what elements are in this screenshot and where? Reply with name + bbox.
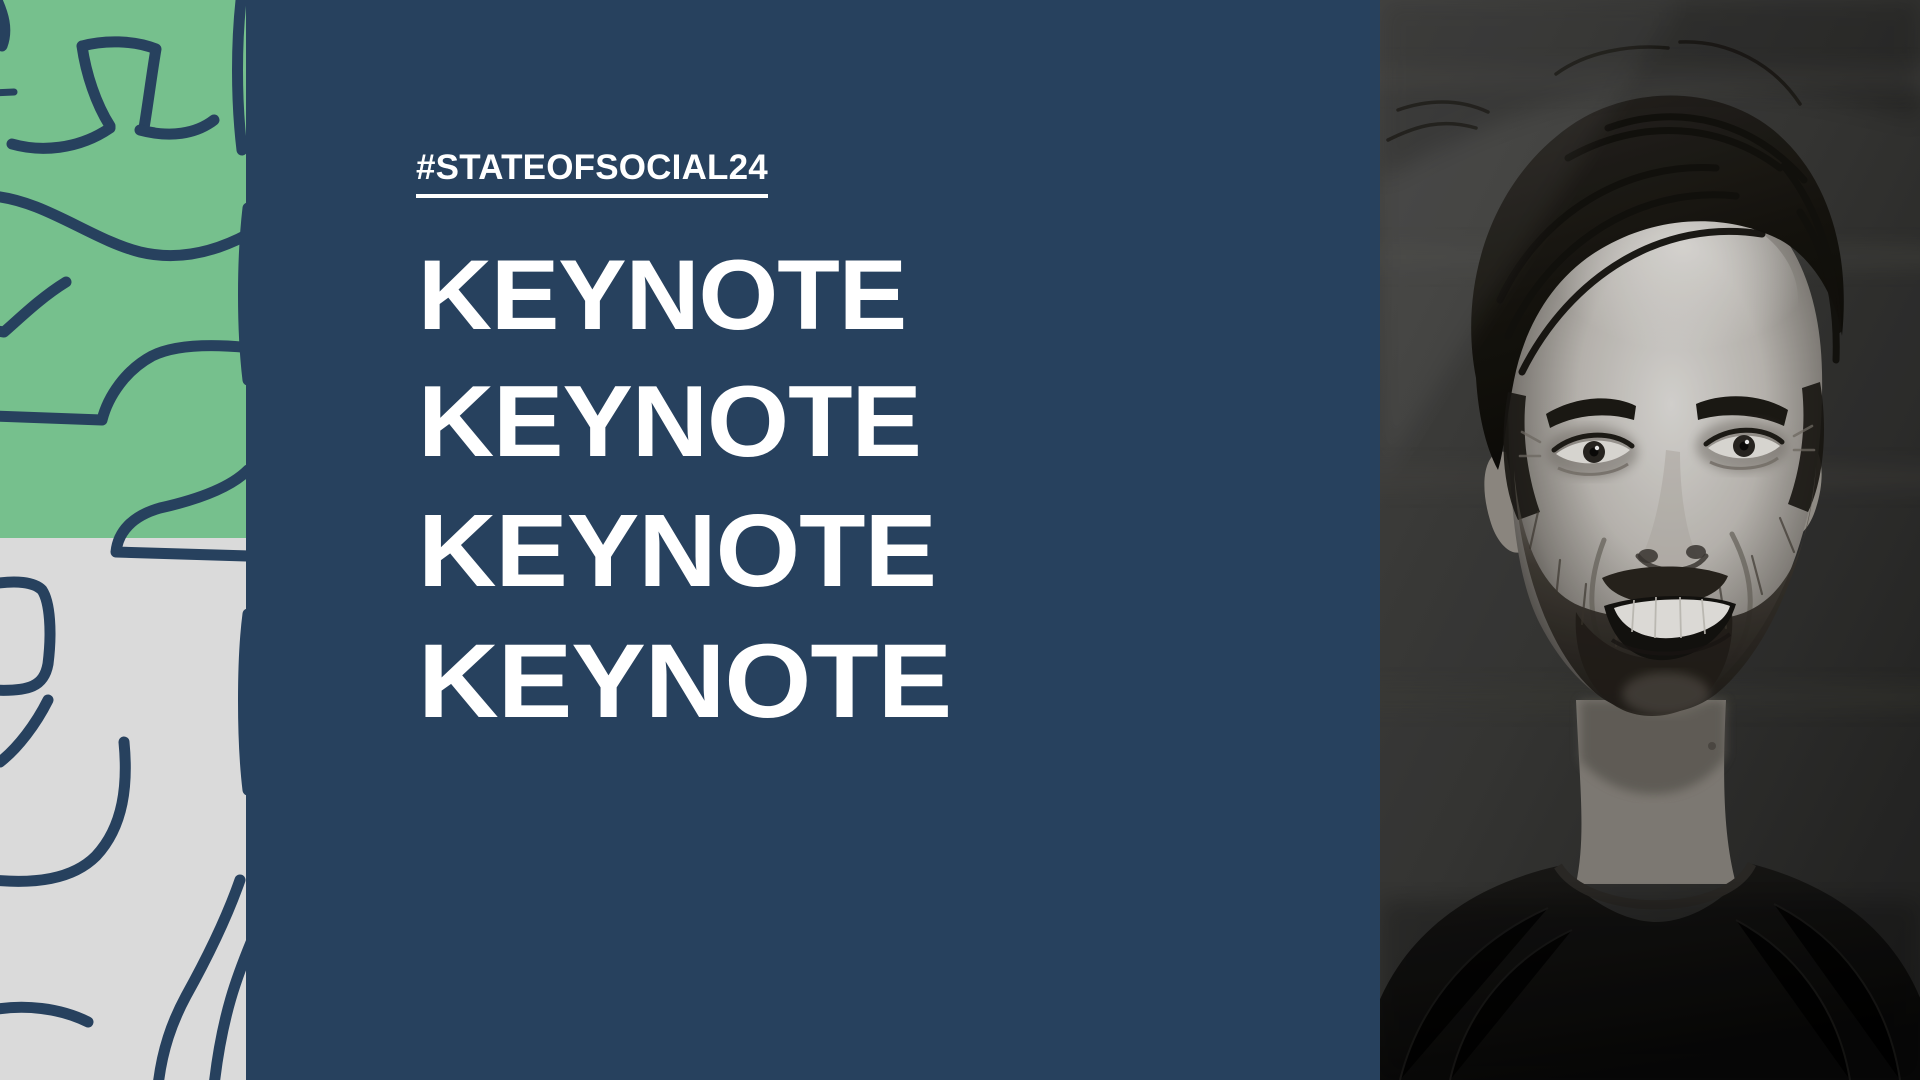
headline-line-2: KEYNOTE <box>418 372 1379 472</box>
event-hashtag: #STATEOFSOCIAL24 <box>416 150 768 198</box>
headline-line-3: KEYNOTE <box>418 500 1389 602</box>
speaker-portrait-image <box>1380 0 1920 1080</box>
headline-line-1: KEYNOTE <box>418 246 1370 344</box>
decorative-doodle-panel <box>0 0 246 1080</box>
headline-line-4: KEYNOTE <box>418 630 1398 734</box>
hand-drawn-line-art <box>0 0 246 1080</box>
content-panel: #STATEOFSOCIAL24 KEYNOTE KEYNOTE KEYNOTE… <box>246 0 1380 1080</box>
speaker-portrait <box>1380 0 1920 1080</box>
headline-stack: KEYNOTE KEYNOTE KEYNOTE KEYNOTE <box>418 246 1338 734</box>
keynote-slide: #STATEOFSOCIAL24 KEYNOTE KEYNOTE KEYNOTE… <box>0 0 1920 1080</box>
